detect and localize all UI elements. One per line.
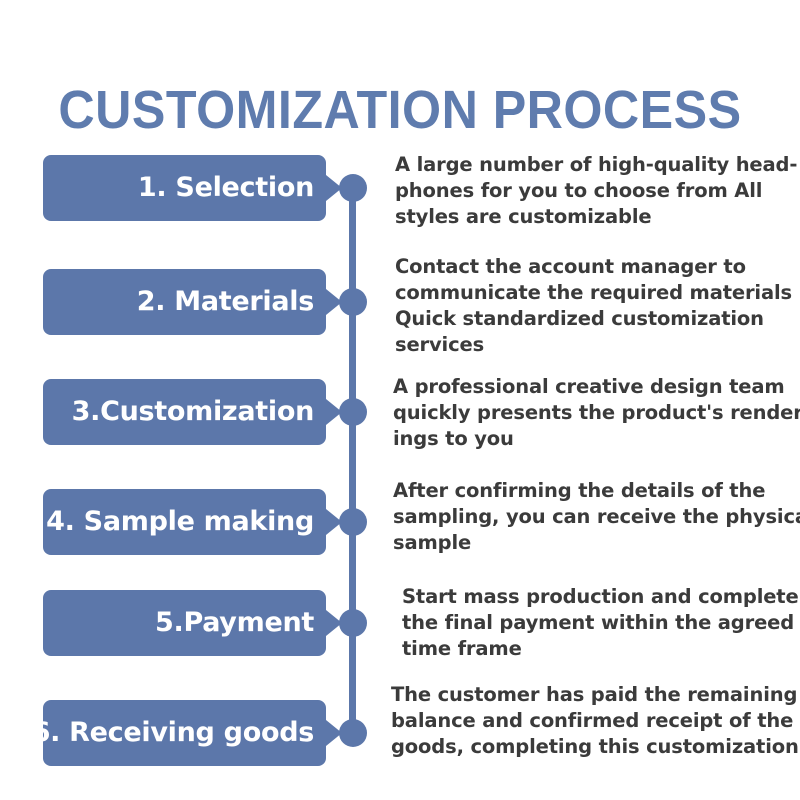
timeline-node-3 bbox=[339, 398, 367, 426]
step-description-6: The customer has paid the remaining bala… bbox=[391, 682, 791, 760]
timeline-node-5 bbox=[339, 609, 367, 637]
step-label-4: 4. Sample making bbox=[46, 507, 314, 537]
page-title: CUSTOMIZATION PROCESS bbox=[28, 80, 772, 140]
desc-line: sample bbox=[393, 530, 793, 556]
desc-line: A professional creative design team bbox=[393, 374, 793, 400]
desc-line: Start mass production and complete bbox=[402, 584, 800, 610]
desc-line: Contact the account manager to bbox=[395, 254, 795, 280]
desc-line: balance and confirmed receipt of the bbox=[391, 708, 791, 734]
desc-line: styles are customizable bbox=[395, 204, 795, 230]
step-box-2[interactable]: 2. Materials bbox=[43, 269, 326, 335]
timeline-node-4 bbox=[339, 508, 367, 536]
step-label-2: 2. Materials bbox=[137, 287, 314, 317]
step-label-3: 3.Customization bbox=[72, 397, 314, 427]
desc-line: time frame bbox=[402, 636, 800, 662]
desc-line: communicate the required materials bbox=[395, 280, 795, 306]
step-box-4[interactable]: 4. Sample making bbox=[43, 489, 326, 555]
desc-line: Quick standardized customization bbox=[395, 306, 795, 332]
step-label-6: 6. Receiving goods bbox=[32, 718, 314, 748]
desc-line: A large number of high-quality head- bbox=[395, 152, 795, 178]
desc-line: The customer has paid the remaining bbox=[391, 682, 791, 708]
timeline-spine bbox=[349, 187, 356, 735]
desc-line: goods, completing this customization bbox=[391, 734, 791, 760]
desc-line: quickly presents the product's render- bbox=[393, 400, 793, 426]
timeline-node-2 bbox=[339, 288, 367, 316]
step-box-3[interactable]: 3.Customization bbox=[43, 379, 326, 445]
step-description-5: Start mass production and complete the f… bbox=[402, 584, 800, 662]
step-box-1[interactable]: 1. Selection bbox=[43, 155, 326, 221]
infographic-canvas: CUSTOMIZATION PROCESS 1. Selection A lar… bbox=[0, 0, 800, 800]
step-box-5[interactable]: 5.Payment bbox=[43, 590, 326, 656]
desc-line: phones for you to choose from All bbox=[395, 178, 795, 204]
step-box-6[interactable]: 6. Receiving goods bbox=[43, 700, 326, 766]
desc-line: the final payment within the agreed bbox=[402, 610, 800, 636]
step-description-2: Contact the account manager to communica… bbox=[395, 254, 795, 358]
step-label-5: 5.Payment bbox=[155, 608, 314, 638]
timeline-node-6 bbox=[339, 719, 367, 747]
step-description-3: A professional creative design team quic… bbox=[393, 374, 793, 452]
timeline-node-1 bbox=[339, 174, 367, 202]
desc-line: After confirming the details of the bbox=[393, 478, 793, 504]
step-description-1: A large number of high-quality head- pho… bbox=[395, 152, 795, 230]
step-label-1: 1. Selection bbox=[138, 173, 314, 203]
desc-line: sampling, you can receive the physical bbox=[393, 504, 793, 530]
step-description-4: After confirming the details of the samp… bbox=[393, 478, 793, 556]
desc-line: ings to you bbox=[393, 426, 793, 452]
desc-line: services bbox=[395, 332, 795, 358]
